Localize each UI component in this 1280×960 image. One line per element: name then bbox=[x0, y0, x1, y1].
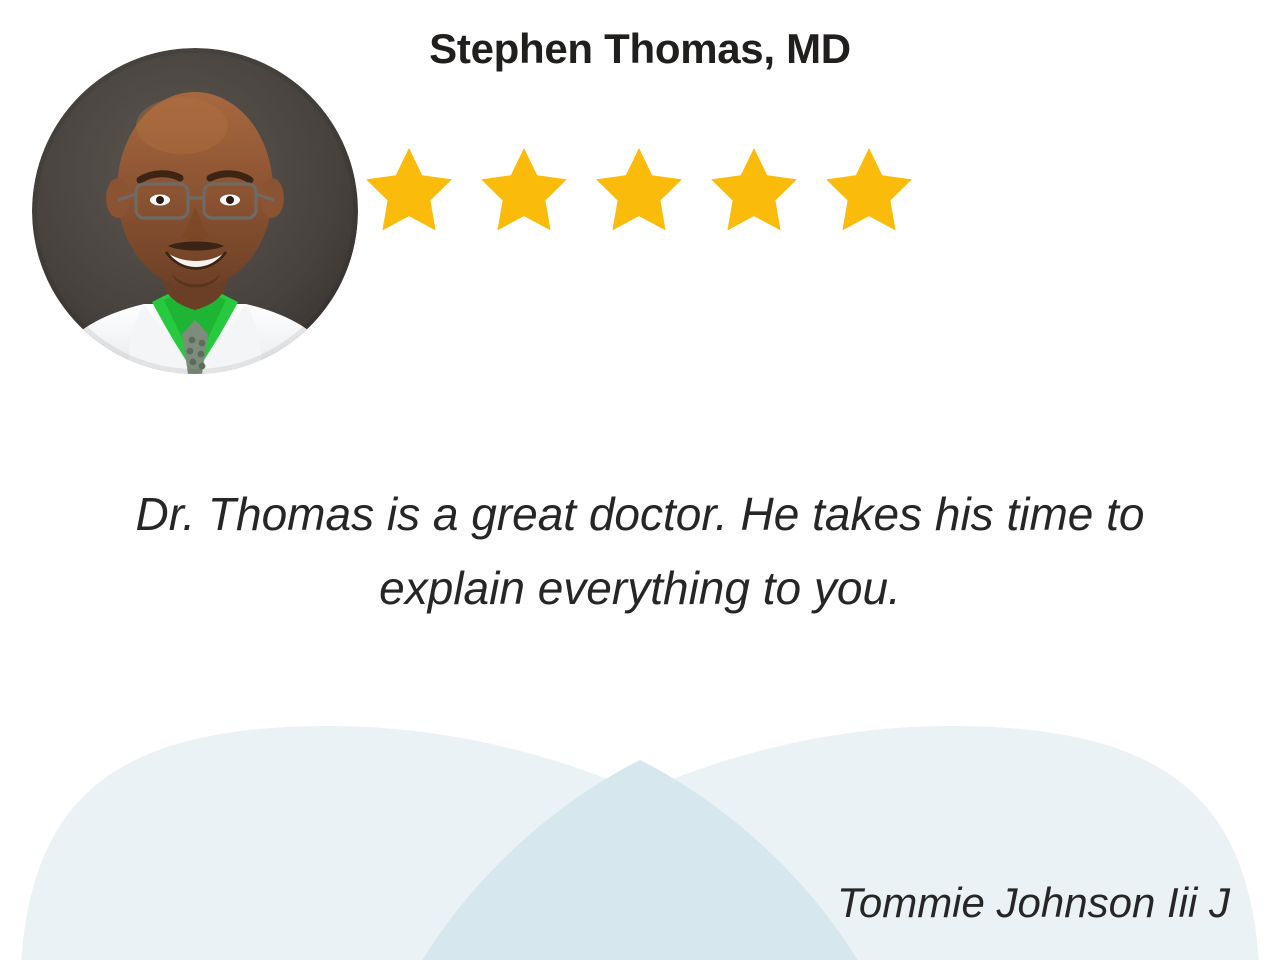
avatar bbox=[32, 48, 358, 374]
reviewer-name: Tommie Johnson Iii J bbox=[180, 878, 1230, 928]
star-icon bbox=[708, 145, 800, 233]
doctor-headshot-image bbox=[32, 48, 358, 374]
star-icon bbox=[363, 145, 455, 233]
testimonial-card: Stephen Thomas, MD Dr. Thomas is a great… bbox=[0, 0, 1280, 960]
review-quote: Dr. Thomas is a great doctor. He takes h… bbox=[100, 478, 1180, 625]
star-icon bbox=[823, 145, 915, 233]
star-icon bbox=[593, 145, 685, 233]
star-icon bbox=[478, 145, 570, 233]
page-title: Stephen Thomas, MD bbox=[370, 26, 910, 72]
rating-stars bbox=[363, 143, 919, 235]
arch-shape-overlap bbox=[400, 760, 880, 960]
